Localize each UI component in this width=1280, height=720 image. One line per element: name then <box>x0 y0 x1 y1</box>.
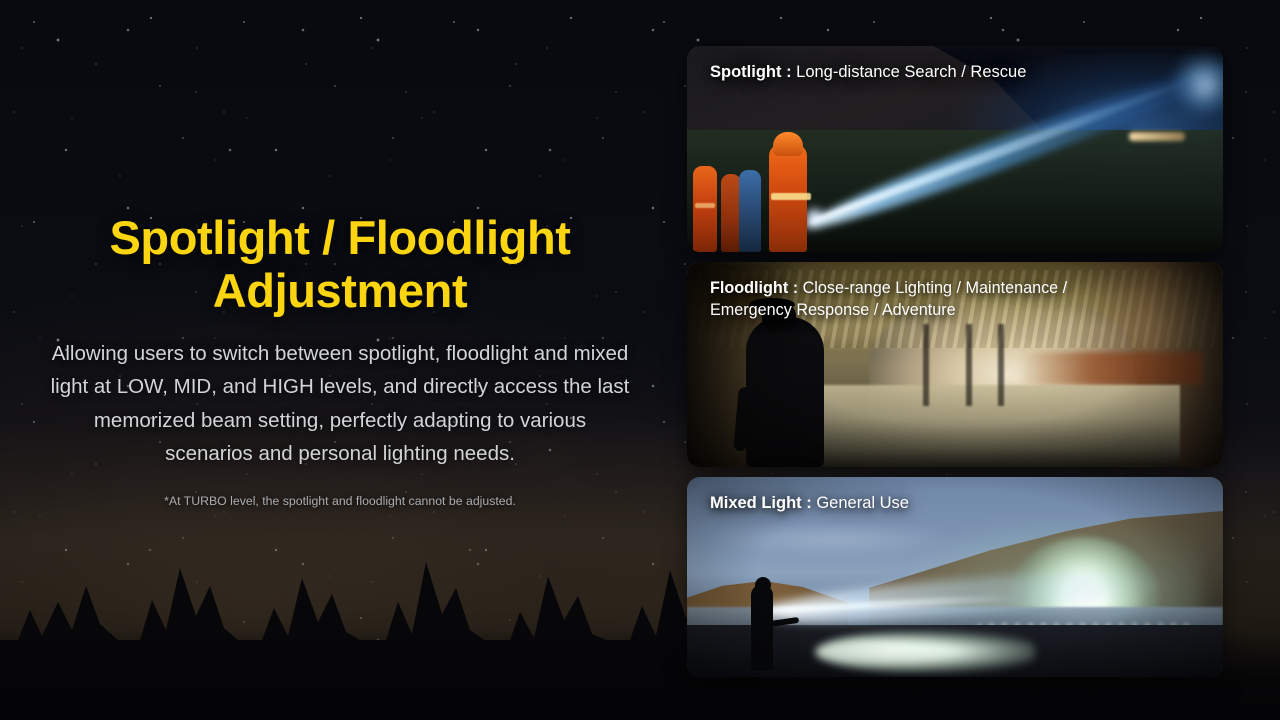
card-mixed-light[interactable]: Mixed Light : General Use <box>687 477 1223 677</box>
scenario-card-list: Spotlight : Long-distance Search / Rescu… <box>687 46 1223 677</box>
card-mixed-light-label: Mixed Light : <box>710 494 812 512</box>
card-spotlight-value: Long-distance Search / Rescue <box>796 63 1026 81</box>
card-floodlight-caption: Floodlight : Close-range Lighting / Main… <box>710 277 1205 322</box>
footnote-text: *At TURBO level, the spotlight and flood… <box>164 494 516 508</box>
card-floodlight-label: Floodlight : <box>710 279 798 297</box>
text-column: Spotlight / Floodlight Adjustment Allowi… <box>0 0 680 720</box>
card-floodlight-value-line1: Close-range Lighting / Maintenance / <box>803 279 1068 297</box>
card-mixed-light-value: General Use <box>816 494 909 512</box>
card-floodlight[interactable]: Floodlight : Close-range Lighting / Main… <box>687 262 1223 467</box>
description-paragraph: Allowing users to switch between spotlig… <box>50 337 630 470</box>
card-spotlight-caption: Spotlight : Long-distance Search / Rescu… <box>710 61 1205 84</box>
page-title: Spotlight / Floodlight Adjustment <box>60 212 620 317</box>
card-floodlight-value-line2: Emergency Response / Adventure <box>710 301 956 319</box>
card-spotlight[interactable]: Spotlight : Long-distance Search / Rescu… <box>687 46 1223 252</box>
card-mixed-light-caption: Mixed Light : General Use <box>710 492 1205 515</box>
card-spotlight-label: Spotlight : <box>710 63 792 81</box>
